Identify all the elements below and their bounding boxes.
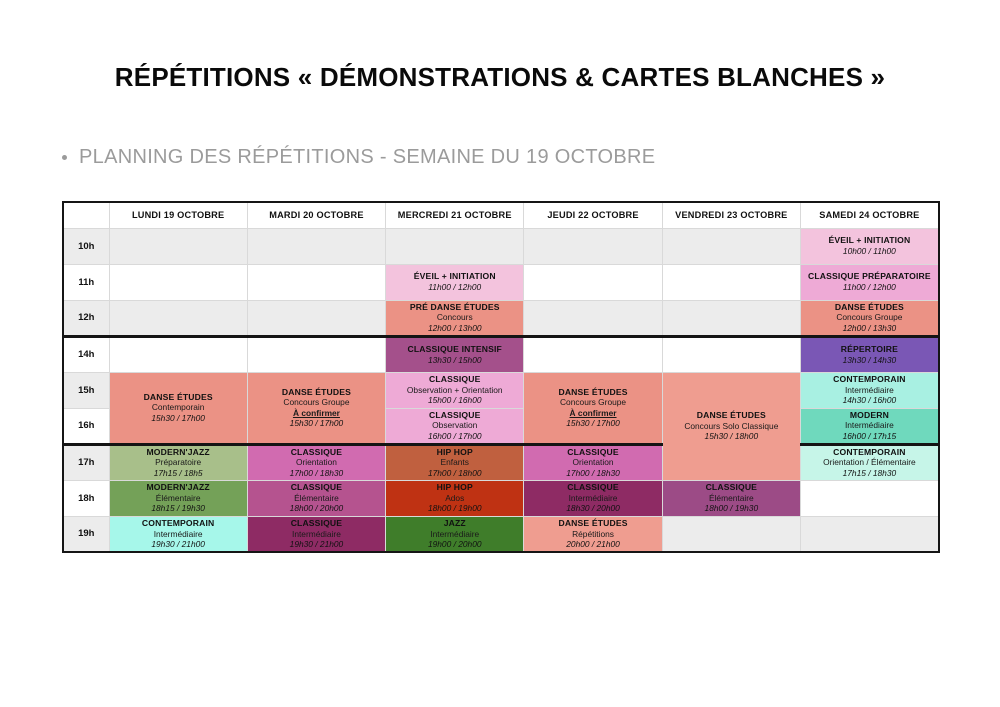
header-day-jeudi: JEUDI 22 OCTOBRE: [524, 202, 662, 228]
event-sub: Intermédiaire: [569, 493, 618, 503]
event-sub: Élémentaire: [156, 493, 201, 503]
event-block: CONTEMPORAIN Intermédiaire 14h30 / 16h00: [801, 373, 938, 408]
header-corner: [63, 202, 109, 228]
event-block: CLASSIQUE Élémentaire 18h00 / 19h30: [663, 481, 800, 516]
event-name: CONTEMPORAIN: [833, 447, 905, 458]
cell-mardi-18h[interactable]: CLASSIQUE Élémentaire 18h00 / 20h00: [247, 480, 385, 516]
table-row: 15h DANSE ÉTUDES Contemporain 15h30 / 17…: [63, 372, 939, 408]
event-time: 19h30 / 21h00: [151, 539, 205, 549]
header-day-mardi: MARDI 20 OCTOBRE: [247, 202, 385, 228]
cell-mercredi-17h[interactable]: HIP HOP Enfants 17h00 / 18h00: [386, 444, 524, 480]
hour-label-12h: 12h: [63, 300, 109, 336]
event-block: CLASSIQUE Élémentaire 18h00 / 20h00: [248, 481, 385, 516]
cell-mercredi-19h[interactable]: JAZZ Intermédiaire 19h00 / 20h00: [386, 516, 524, 552]
event-block: MODERN Intermédiaire 16h00 / 17h15: [801, 409, 938, 443]
event-name: DANSE ÉTUDES: [835, 302, 904, 313]
event-sub: Répétitions: [572, 529, 614, 539]
cell-jeudi-12h[interactable]: [524, 300, 662, 336]
event-name: CLASSIQUE: [429, 374, 481, 385]
event-time: 15h00 / 16h00: [428, 395, 482, 405]
cell-jeudi-14h[interactable]: [524, 336, 662, 372]
event-time: 16h00 / 17h00: [428, 431, 482, 441]
event-time: 20h00 / 21h00: [566, 539, 620, 549]
cell-mercredi-12h[interactable]: PRÉ DANSE ÉTUDES Concours 12h00 / 13h00: [386, 300, 524, 336]
event-time: 15h30 / 17h00: [151, 413, 205, 423]
event-sub: Intermédiaire: [845, 385, 894, 395]
event-sub: Concours Groupe: [283, 397, 349, 407]
event-name: CLASSIQUE PRÉPARATOIRE: [808, 271, 931, 282]
cell-mardi-10h[interactable]: [247, 228, 385, 264]
table-row: 10h ÉVEIL + INITIATION 10h00 / 11h00: [63, 228, 939, 264]
event-time: 15h30 / 18h00: [705, 431, 759, 441]
event-time: 12h00 / 13h30: [843, 323, 897, 333]
event-block: HIP HOP Enfants 17h00 / 18h00: [386, 446, 523, 480]
event-time: 18h00 / 20h00: [290, 503, 344, 513]
event-name: DANSE ÉTUDES: [558, 518, 627, 529]
event-name: HIP HOP: [437, 482, 473, 493]
hour-label-16h: 16h: [63, 408, 109, 444]
cell-lundi-15h[interactable]: DANSE ÉTUDES Contemporain 15h30 / 17h00: [109, 372, 247, 444]
cell-mercredi-14h[interactable]: CLASSIQUE INTENSIF 13h30 / 15h00: [386, 336, 524, 372]
event-sub: Intermédiaire: [845, 420, 894, 430]
event-block: JAZZ Intermédiaire 19h00 / 20h00: [386, 517, 523, 552]
cell-lundi-19h[interactable]: CONTEMPORAIN Intermédiaire 19h30 / 21h00: [109, 516, 247, 552]
page-title: RÉPÉTITIONS « DÉMONSTRATIONS & CARTES BL…: [0, 62, 1000, 93]
hour-label-11h: 11h: [63, 264, 109, 300]
event-sub: Intermédiaire: [430, 529, 479, 539]
event-block: DANSE ÉTUDES Contemporain 15h30 / 17h00: [110, 373, 247, 443]
cell-samedi-11h[interactable]: CLASSIQUE PRÉPARATOIRE 11h00 / 12h00: [800, 264, 938, 300]
event-block: CONTEMPORAIN Orientation / Élémentaire 1…: [801, 446, 938, 480]
event-block: DANSE ÉTUDES Concours Groupe 12h00 / 13h…: [801, 301, 938, 335]
event-time: 13h30 / 15h00: [428, 355, 482, 365]
event-block: CLASSIQUE Intermédiaire 19h30 / 21h00: [248, 517, 385, 552]
event-name: MODERN: [850, 410, 889, 421]
event-sub: Élémentaire: [709, 493, 754, 503]
event-block: DANSE ÉTUDES Répétitions 20h00 / 21h00: [524, 517, 661, 552]
event-block: CLASSIQUE INTENSIF 13h30 / 15h00: [386, 338, 523, 372]
header-day-lundi: LUNDI 19 OCTOBRE: [109, 202, 247, 228]
event-sub: Préparatoire: [155, 457, 201, 467]
cell-lundi-14h[interactable]: [109, 336, 247, 372]
event-name: RÉPERTOIRE: [841, 344, 898, 355]
event-time: 15h30 / 17h00: [290, 418, 344, 428]
cell-jeudi-19h[interactable]: DANSE ÉTUDES Répétitions 20h00 / 21h00: [524, 516, 662, 552]
hour-label-17h: 17h: [63, 444, 109, 480]
event-name: CLASSIQUE: [429, 410, 481, 421]
event-time: 17h00 / 18h30: [566, 468, 620, 478]
event-sub: Observation: [432, 420, 477, 430]
cell-jeudi-18h[interactable]: CLASSIQUE Intermédiaire 18h30 / 20h00: [524, 480, 662, 516]
event-name: CLASSIQUE: [291, 482, 343, 493]
cell-mercredi-10h[interactable]: [386, 228, 524, 264]
cell-mardi-14h[interactable]: [247, 336, 385, 372]
event-time: 18h00 / 19h30: [705, 503, 759, 513]
header-day-mercredi: MERCREDI 21 OCTOBRE: [386, 202, 524, 228]
cell-mercredi-16h[interactable]: CLASSIQUE Observation 16h00 / 17h00: [386, 408, 524, 444]
event-block: ÉVEIL + INITIATION 11h00 / 12h00: [386, 265, 523, 300]
event-sub: Observation + Orientation: [407, 385, 503, 395]
event-time: 17h15 / 18h5: [154, 468, 203, 478]
event-block: CLASSIQUE Observation 16h00 / 17h00: [386, 409, 523, 443]
table-row: 11h ÉVEIL + INITIATION 11h00 / 12h00 CLA…: [63, 264, 939, 300]
event-time: 18h00 / 19h00: [428, 503, 482, 513]
table-row: 14h CLASSIQUE INTENSIF 13h30 / 15h00 RÉP…: [63, 336, 939, 372]
event-time: 18h15 / 19h30: [151, 503, 205, 513]
event-sub: Contemporain: [152, 402, 205, 412]
event-time: 16h00 / 17h15: [843, 431, 897, 441]
event-sub: Concours Groupe: [836, 312, 902, 322]
cell-lundi-18h[interactable]: MODERN'JAZZ Élémentaire 18h15 / 19h30: [109, 480, 247, 516]
bullet-icon: [62, 155, 67, 160]
header-row: LUNDI 19 OCTOBRE MARDI 20 OCTOBRE MERCRE…: [63, 202, 939, 228]
cell-mardi-17h[interactable]: CLASSIQUE Orientation 17h00 / 18h30: [247, 444, 385, 480]
cell-lundi-17h[interactable]: MODERN'JAZZ Préparatoire 17h15 / 18h5: [109, 444, 247, 480]
cell-jeudi-10h[interactable]: [524, 228, 662, 264]
cell-vendredi-19h[interactable]: [662, 516, 800, 552]
event-time: 15h30 / 17h00: [566, 418, 620, 428]
table-row: 19h CONTEMPORAIN Intermédiaire 19h30 / 2…: [63, 516, 939, 552]
cell-samedi-17h[interactable]: CONTEMPORAIN Orientation / Élémentaire 1…: [800, 444, 938, 480]
cell-jeudi-15h[interactable]: DANSE ÉTUDES Concours Groupe À confirmer…: [524, 372, 662, 444]
cell-vendredi-14h[interactable]: [662, 336, 800, 372]
event-time: 12h00 / 13h00: [428, 323, 482, 333]
event-block: DANSE ÉTUDES Concours Groupe À confirmer…: [248, 373, 385, 443]
cell-samedi-19h[interactable]: [800, 516, 938, 552]
table-row: 12h PRÉ DANSE ÉTUDES Concours 12h00 / 13…: [63, 300, 939, 336]
cell-mercredi-18h[interactable]: HIP HOP Ados 18h00 / 19h00: [386, 480, 524, 516]
event-name: DANSE ÉTUDES: [558, 387, 627, 398]
header-day-samedi: SAMEDI 24 OCTOBRE: [800, 202, 938, 228]
hour-label-14h: 14h: [63, 336, 109, 372]
cell-mercredi-15h[interactable]: CLASSIQUE Observation + Orientation 15h0…: [386, 372, 524, 408]
event-name: ÉVEIL + INITIATION: [414, 271, 496, 282]
hour-label-15h: 15h: [63, 372, 109, 408]
event-sub: Ados: [445, 493, 464, 503]
cell-vendredi-15h[interactable]: DANSE ÉTUDES Concours Solo Classique 15h…: [662, 372, 800, 480]
event-name: JAZZ: [444, 518, 466, 529]
event-block: CLASSIQUE PRÉPARATOIRE 11h00 / 12h00: [801, 265, 938, 300]
hour-label-18h: 18h: [63, 480, 109, 516]
cell-jeudi-17h[interactable]: CLASSIQUE Orientation 17h00 / 18h30: [524, 444, 662, 480]
event-name: HIP HOP: [437, 447, 473, 458]
cell-lundi-12h[interactable]: [109, 300, 247, 336]
cell-vendredi-11h[interactable]: [662, 264, 800, 300]
hour-label-10h: 10h: [63, 228, 109, 264]
event-sub: Orientation / Élémentaire: [823, 457, 916, 467]
event-name: MODERN'JAZZ: [146, 447, 209, 458]
event-time: 17h15 / 18h30: [843, 468, 897, 478]
cell-samedi-15h[interactable]: CONTEMPORAIN Intermédiaire 14h30 / 16h00: [800, 372, 938, 408]
event-block: DANSE ÉTUDES Concours Groupe À confirmer…: [524, 373, 661, 443]
event-time: 10h00 / 11h00: [843, 246, 896, 256]
cell-samedi-12h[interactable]: DANSE ÉTUDES Concours Groupe 12h00 / 13h…: [800, 300, 938, 336]
event-block: CONTEMPORAIN Intermédiaire 19h30 / 21h00: [110, 517, 247, 552]
event-name: CONTEMPORAIN: [142, 518, 214, 529]
event-block: PRÉ DANSE ÉTUDES Concours 12h00 / 13h00: [386, 301, 523, 335]
event-sub: Orientation: [296, 457, 337, 467]
table-row: 18h MODERN'JAZZ Élémentaire 18h15 / 19h3…: [63, 480, 939, 516]
event-sub: Enfants: [441, 457, 469, 467]
cell-mardi-15h[interactable]: DANSE ÉTUDES Concours Groupe À confirmer…: [247, 372, 385, 444]
event-time: 17h00 / 18h30: [290, 468, 344, 478]
slide-page: RÉPÉTITIONS « DÉMONSTRATIONS & CARTES BL…: [0, 0, 1000, 707]
event-time: 18h30 / 20h00: [566, 503, 620, 513]
page-subtitle: PLANNING DES RÉPÉTITIONS - SEMAINE DU 19…: [79, 146, 655, 169]
event-name: CLASSIQUE: [291, 447, 343, 458]
event-block: ÉVEIL + INITIATION 10h00 / 11h00: [801, 229, 938, 264]
event-name: CLASSIQUE: [567, 482, 619, 493]
event-block: RÉPERTOIRE 13h30 / 14h30: [801, 338, 938, 372]
schedule-table: LUNDI 19 OCTOBRE MARDI 20 OCTOBRE MERCRE…: [62, 201, 940, 553]
event-block: DANSE ÉTUDES Concours Solo Classique 15h…: [663, 373, 800, 480]
event-time: 19h30 / 21h00: [290, 539, 344, 549]
table-header: LUNDI 19 OCTOBRE MARDI 20 OCTOBRE MERCRE…: [63, 202, 939, 228]
subtitle-row: PLANNING DES RÉPÉTITIONS - SEMAINE DU 19…: [62, 146, 655, 169]
cell-mardi-11h[interactable]: [247, 264, 385, 300]
event-time: 11h00 / 12h00: [843, 282, 896, 292]
event-sub-note: À confirmer: [293, 408, 340, 418]
event-block: CLASSIQUE Orientation 17h00 / 18h30: [524, 446, 661, 480]
event-time: 14h30 / 16h00: [843, 395, 897, 405]
event-time: 17h00 / 18h00: [428, 468, 482, 478]
event-block: CLASSIQUE Orientation 17h00 / 18h30: [248, 446, 385, 480]
event-name: CONTEMPORAIN: [833, 374, 905, 385]
event-sub: Élémentaire: [294, 493, 339, 503]
cell-samedi-16h[interactable]: MODERN Intermédiaire 16h00 / 17h15: [800, 408, 938, 444]
table-row: 17h MODERN'JAZZ Préparatoire 17h15 / 18h…: [63, 444, 939, 480]
event-sub: Orientation: [573, 457, 614, 467]
cell-samedi-14h[interactable]: RÉPERTOIRE 13h30 / 14h30: [800, 336, 938, 372]
event-sub-note: À confirmer: [570, 408, 617, 418]
cell-mercredi-11h[interactable]: ÉVEIL + INITIATION 11h00 / 12h00: [386, 264, 524, 300]
event-sub: Intermédiaire: [292, 529, 341, 539]
event-block: CLASSIQUE Intermédiaire 18h30 / 20h00: [524, 481, 661, 516]
event-name: ÉVEIL + INITIATION: [828, 235, 910, 246]
header-day-vendredi: VENDREDI 23 OCTOBRE: [662, 202, 800, 228]
cell-vendredi-12h[interactable]: [662, 300, 800, 336]
event-block: CLASSIQUE Observation + Orientation 15h0…: [386, 373, 523, 408]
event-name: DANSE ÉTUDES: [282, 387, 351, 398]
event-name: PRÉ DANSE ÉTUDES: [410, 302, 500, 313]
cell-vendredi-18h[interactable]: CLASSIQUE Élémentaire 18h00 / 19h30: [662, 480, 800, 516]
event-sub: Concours Groupe: [560, 397, 626, 407]
cell-samedi-18h[interactable]: [800, 480, 938, 516]
cell-lundi-10h[interactable]: [109, 228, 247, 264]
event-block: MODERN'JAZZ Préparatoire 17h15 / 18h5: [110, 446, 247, 480]
event-block: MODERN'JAZZ Élémentaire 18h15 / 19h30: [110, 481, 247, 516]
cell-lundi-11h[interactable]: [109, 264, 247, 300]
cell-jeudi-11h[interactable]: [524, 264, 662, 300]
cell-samedi-10h[interactable]: ÉVEIL + INITIATION 10h00 / 11h00: [800, 228, 938, 264]
event-time: 11h00 / 12h00: [428, 282, 481, 292]
event-block: HIP HOP Ados 18h00 / 19h00: [386, 481, 523, 516]
event-name: CLASSIQUE INTENSIF: [408, 344, 502, 355]
cell-vendredi-10h[interactable]: [662, 228, 800, 264]
event-sub: Intermédiaire: [154, 529, 203, 539]
hour-label-19h: 19h: [63, 516, 109, 552]
event-sub: Concours: [437, 312, 473, 322]
table-body: 10h ÉVEIL + INITIATION 10h00 / 11h00: [63, 228, 939, 552]
event-time: 13h30 / 14h30: [843, 355, 897, 365]
event-name: CLASSIQUE: [567, 447, 619, 458]
schedule-table-wrapper: LUNDI 19 OCTOBRE MARDI 20 OCTOBRE MERCRE…: [62, 201, 938, 553]
event-name: DANSE ÉTUDES: [144, 392, 213, 403]
event-name: CLASSIQUE: [706, 482, 758, 493]
cell-mardi-12h[interactable]: [247, 300, 385, 336]
event-name: CLASSIQUE: [291, 518, 343, 529]
event-time: 19h00 / 20h00: [428, 539, 482, 549]
event-sub: Concours Solo Classique: [684, 421, 778, 431]
event-name: DANSE ÉTUDES: [697, 410, 766, 421]
cell-mardi-19h[interactable]: CLASSIQUE Intermédiaire 19h30 / 21h00: [247, 516, 385, 552]
event-name: MODERN'JAZZ: [146, 482, 209, 493]
